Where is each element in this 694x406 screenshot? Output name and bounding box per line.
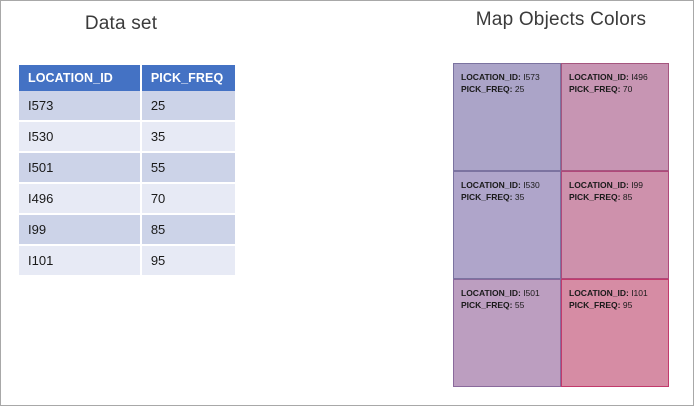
map-cell-frequency-line: PICK_FREQ: 85 <box>569 191 662 203</box>
column-header-pick-freq: PICK_FREQ <box>141 65 235 91</box>
map-cell-frequency-value: 25 <box>515 84 524 94</box>
cell-pick-freq: 85 <box>141 214 235 245</box>
map-cell-frequency-key: PICK_FREQ: <box>461 192 515 202</box>
map-object-cell[interactable]: LOCATION_ID: I501PICK_FREQ: 55 <box>453 279 561 387</box>
table-body: I57325I53035I50155I49670I9985I10195 <box>19 91 235 276</box>
map-cell-frequency-line: PICK_FREQ: 55 <box>461 299 554 311</box>
map-objects-colors-title: Map Objects Colors <box>453 9 669 31</box>
table-row: I53035 <box>19 121 235 152</box>
map-cell-frequency-line: PICK_FREQ: 25 <box>461 83 554 95</box>
map-cell-frequency-key: PICK_FREQ: <box>569 84 623 94</box>
map-cell-location-value: I530 <box>523 180 540 190</box>
map-object-cell[interactable]: LOCATION_ID: I101PICK_FREQ: 95 <box>561 279 669 387</box>
map-object-cell[interactable]: LOCATION_ID: I530PICK_FREQ: 35 <box>453 171 561 279</box>
map-cell-frequency-key: PICK_FREQ: <box>569 192 623 202</box>
map-cell-frequency-line: PICK_FREQ: 35 <box>461 191 554 203</box>
cell-pick-freq: 35 <box>141 121 235 152</box>
cell-pick-freq: 55 <box>141 152 235 183</box>
table-row: I49670 <box>19 183 235 214</box>
cell-location-id: I501 <box>19 152 141 183</box>
cell-location-id: I99 <box>19 214 141 245</box>
map-cell-location-line: LOCATION_ID: I99 <box>569 179 662 191</box>
map-cell-frequency-value: 70 <box>623 84 632 94</box>
data-set-title: Data set <box>1 13 241 35</box>
map-cell-location-key: LOCATION_ID: <box>461 288 523 298</box>
table-header-row: LOCATION_ID PICK_FREQ <box>19 65 235 91</box>
table-row: I57325 <box>19 91 235 121</box>
table-row: I10195 <box>19 245 235 276</box>
map-cell-location-line: LOCATION_ID: I501 <box>461 287 554 299</box>
map-cell-location-key: LOCATION_ID: <box>569 288 631 298</box>
map-cell-frequency-value: 55 <box>515 300 524 310</box>
map-cell-frequency-key: PICK_FREQ: <box>461 84 515 94</box>
map-cell-location-value: I573 <box>523 72 540 82</box>
map-cell-location-line: LOCATION_ID: I496 <box>569 71 662 83</box>
map-cell-frequency-key: PICK_FREQ: <box>569 300 623 310</box>
map-objects-grid: LOCATION_ID: I573PICK_FREQ: 25LOCATION_I… <box>453 63 669 387</box>
map-object-cell[interactable]: LOCATION_ID: I573PICK_FREQ: 25 <box>453 63 561 171</box>
cell-pick-freq: 70 <box>141 183 235 214</box>
cell-pick-freq: 95 <box>141 245 235 276</box>
map-cell-location-key: LOCATION_ID: <box>461 72 523 82</box>
map-cell-location-value: I496 <box>631 72 648 82</box>
slide-canvas: Data set Map Objects Colors LOCATION_ID … <box>0 0 694 406</box>
cell-pick-freq: 25 <box>141 91 235 121</box>
table-row: I9985 <box>19 214 235 245</box>
cell-location-id: I573 <box>19 91 141 121</box>
map-object-cell[interactable]: LOCATION_ID: I99PICK_FREQ: 85 <box>561 171 669 279</box>
map-cell-location-line: LOCATION_ID: I101 <box>569 287 662 299</box>
map-cell-frequency-line: PICK_FREQ: 70 <box>569 83 662 95</box>
map-cell-location-key: LOCATION_ID: <box>569 72 631 82</box>
map-cell-location-key: LOCATION_ID: <box>461 180 523 190</box>
map-object-cell[interactable]: LOCATION_ID: I496PICK_FREQ: 70 <box>561 63 669 171</box>
map-cell-location-line: LOCATION_ID: I573 <box>461 71 554 83</box>
cell-location-id: I496 <box>19 183 141 214</box>
table-row: I50155 <box>19 152 235 183</box>
cell-location-id: I101 <box>19 245 141 276</box>
map-cell-location-value: I101 <box>631 288 648 298</box>
data-set-table: LOCATION_ID PICK_FREQ I57325I53035I50155… <box>19 65 235 277</box>
map-cell-frequency-value: 35 <box>515 192 524 202</box>
map-cell-frequency-key: PICK_FREQ: <box>461 300 515 310</box>
map-cell-frequency-value: 95 <box>623 300 632 310</box>
map-cell-frequency-line: PICK_FREQ: 95 <box>569 299 662 311</box>
map-cell-frequency-value: 85 <box>623 192 632 202</box>
map-cell-location-value: I99 <box>631 180 643 190</box>
map-cell-location-key: LOCATION_ID: <box>569 180 631 190</box>
map-cell-location-value: I501 <box>523 288 540 298</box>
column-header-location-id: LOCATION_ID <box>19 65 141 91</box>
cell-location-id: I530 <box>19 121 141 152</box>
map-cell-location-line: LOCATION_ID: I530 <box>461 179 554 191</box>
